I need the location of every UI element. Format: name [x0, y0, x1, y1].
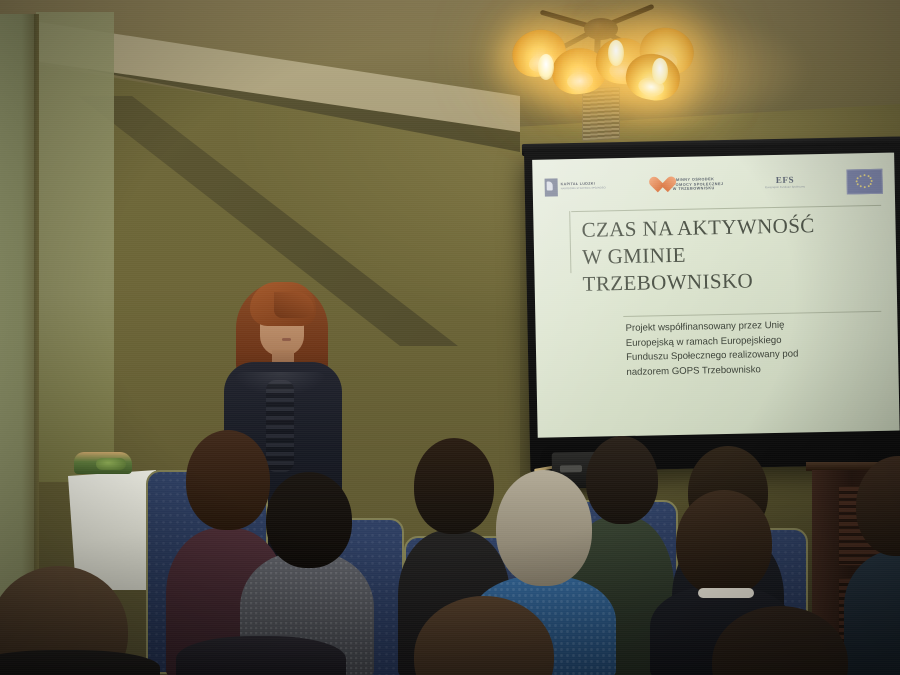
logo-kapital-ludzki: KAPITAŁ LUDZKI NARODOWA STRATEGIA SPÓJNO…	[545, 177, 607, 196]
audience-shoulders	[0, 650, 160, 675]
audience-head	[414, 438, 494, 534]
eu-flag-icon	[846, 168, 882, 194]
efs-name: EFS	[776, 176, 794, 185]
audience-shoulders	[176, 636, 346, 675]
conference-photo: KAPITAŁ LUDZKI NARODOWA STRATEGIA SPÓJNO…	[0, 0, 900, 675]
slide-canvas: KAPITAŁ LUDZKI NARODOWA STRATEGIA SPÓJNO…	[532, 153, 900, 438]
eu-star-icon	[857, 177, 859, 179]
eu-star-icon	[863, 174, 865, 176]
slide-title: CZAS NA AKTYWNOŚĆ W GMINIE TRZEBOWNISKO	[581, 211, 883, 298]
chandelier-body	[584, 18, 618, 40]
kapital-ludzki-icon	[545, 178, 558, 196]
logo-gops: GMINNY OŚRODEK POMOCY SPOŁECZNEJ W TRZEB…	[648, 175, 724, 195]
presenter-mouth	[282, 338, 291, 341]
eu-star-icon	[870, 183, 872, 185]
eu-star-icon	[856, 180, 858, 182]
slide-title-line: TRZEBOWNISKO	[582, 265, 882, 298]
slide-vertical-bar	[569, 211, 571, 273]
audience-shoulders	[844, 550, 900, 675]
eu-star-icon	[857, 183, 859, 185]
light-bulb	[608, 40, 624, 66]
light-bulb	[652, 58, 668, 84]
eu-star-icon	[864, 186, 866, 188]
logo-efs: EFS Europejski Fundusz Społeczny	[765, 176, 805, 190]
eu-star-icon	[871, 180, 873, 182]
eu-star-icon	[870, 177, 872, 179]
eu-star-icon	[860, 175, 862, 177]
presenter-fringe	[274, 292, 314, 318]
slide-rule-mid	[623, 311, 881, 317]
audience	[0, 400, 900, 675]
eu-star-icon	[867, 185, 869, 187]
efs-subtitle: Europejski Fundusz Społeczny	[765, 187, 805, 190]
ceiling-chandelier	[500, 0, 710, 106]
eu-star-icon	[860, 185, 862, 187]
audience-head	[586, 436, 658, 524]
gops-line-3: W TRZEBOWNISKU	[673, 186, 724, 192]
audience-collar	[698, 588, 754, 598]
slide-body-text: Projekt współfinansowany przez Unię Euro…	[625, 317, 876, 380]
audience-head	[496, 470, 592, 586]
light-bulb	[538, 54, 554, 80]
audience-head	[856, 456, 900, 556]
audience-head	[266, 472, 352, 568]
audience-head	[186, 430, 270, 530]
audience-head	[676, 490, 772, 596]
heart-icon	[648, 176, 668, 194]
eu-star-icon	[867, 175, 869, 177]
slide-logo-row: KAPITAŁ LUDZKI NARODOWA STRATEGIA SPÓJNO…	[544, 165, 883, 204]
kapital-ludzki-subtitle: NARODOWA STRATEGIA SPÓJNOŚCI	[561, 188, 606, 191]
